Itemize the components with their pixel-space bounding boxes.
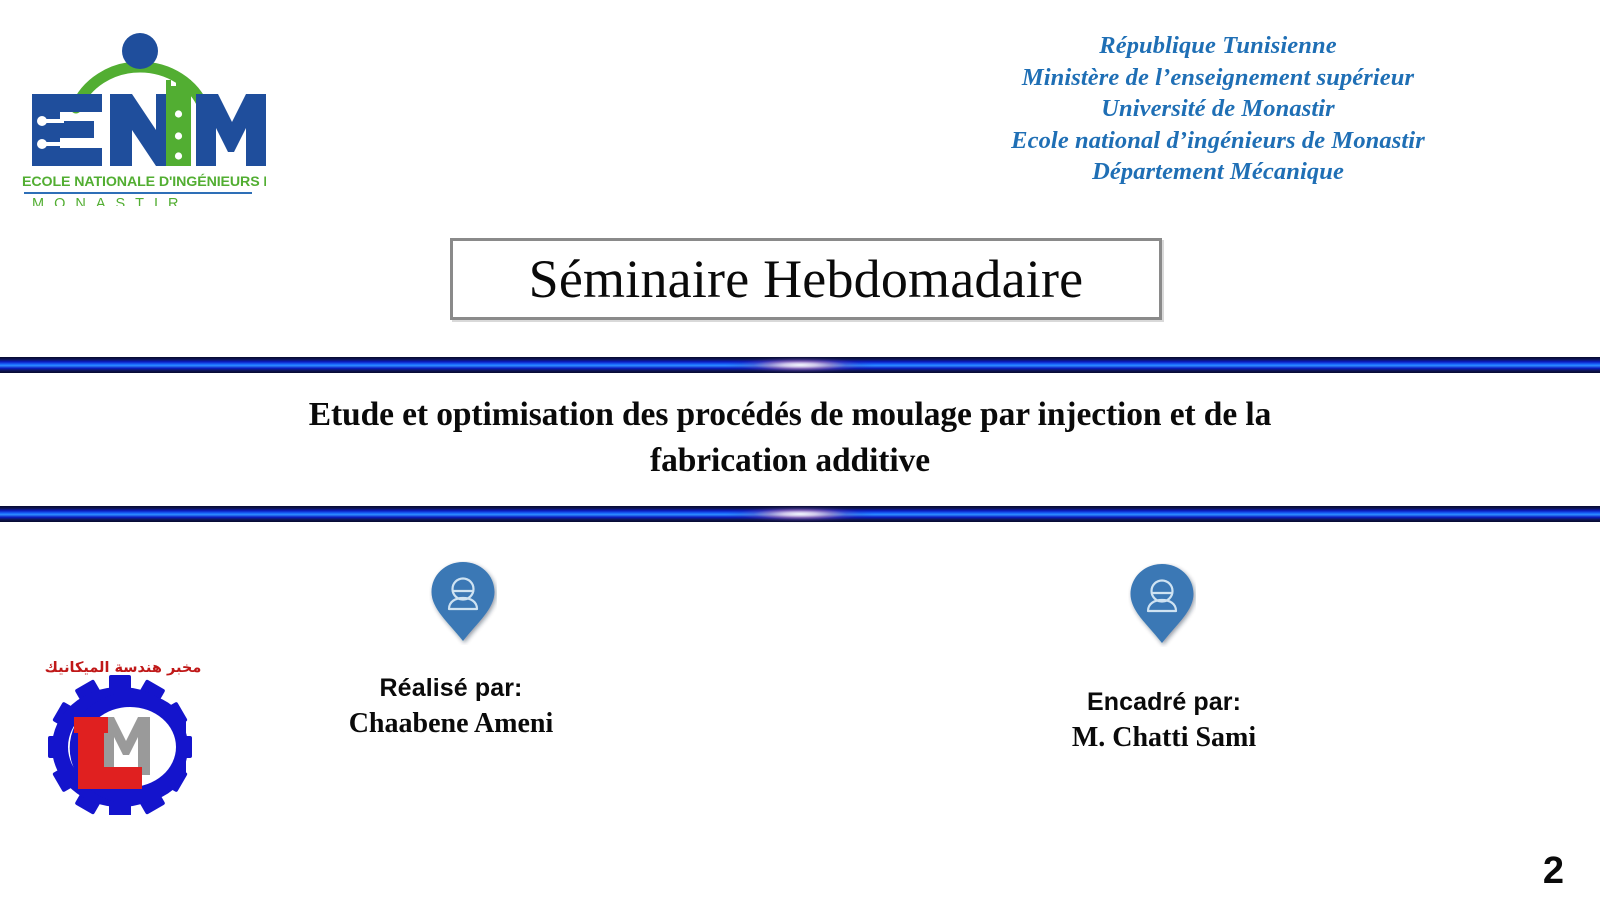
seminar-title-box: Séminaire Hebdomadaire	[450, 238, 1162, 320]
person-pin-icon	[429, 561, 497, 645]
divider-glow	[725, 356, 875, 374]
subject-line-2: fabrication additive	[190, 438, 1390, 484]
presentation-slide: ECOLE NATIONALE D'INGÉNIEURS DE MONASTIR…	[0, 0, 1600, 900]
lmg-lab-logo: مخبر هندسة الميكانيك	[8, 655, 238, 815]
institution-header: République Tunisienne Ministère de l’ens…	[898, 30, 1538, 188]
header-line-4: Ecole national d’ingénieurs de Monastir	[898, 125, 1538, 157]
enim-subtitle-line1: ECOLE NATIONALE D'INGÉNIEURS DE	[22, 173, 266, 190]
header-line-3: Université de Monastir	[898, 93, 1538, 125]
credit-role-label: Réalisé par:	[241, 670, 661, 706]
subject-line-1: Etude et optimisation des procédés de mo…	[190, 392, 1390, 438]
enim-logo: ECOLE NATIONALE D'INGÉNIEURS DE MONASTIR	[14, 26, 266, 206]
header-line-5: Département Mécanique	[898, 156, 1538, 188]
page-number: 2	[1543, 852, 1564, 890]
divider-bottom	[0, 506, 1600, 522]
page-title: Séminaire Hebdomadaire	[529, 252, 1084, 306]
credit-block-supervisor: Encadré par: M. Chatti Sami	[954, 684, 1374, 756]
person-pin-icon	[1128, 563, 1196, 647]
presentation-subject: Etude et optimisation des procédés de mo…	[190, 392, 1390, 484]
credit-role-label: Encadré par:	[954, 684, 1374, 720]
enim-subtitle-line2: MONASTIR	[32, 196, 189, 206]
header-line-2: Ministère de l’enseignement supérieur	[898, 62, 1538, 94]
divider-glow	[725, 505, 875, 523]
divider-top	[0, 357, 1600, 373]
header-line-1: République Tunisienne	[898, 30, 1538, 62]
credit-person-name: Chaabene Ameni	[241, 706, 661, 742]
lmg-arabic-title: مخبر هندسة الميكانيك	[45, 660, 202, 676]
credit-person-name: M. Chatti Sami	[954, 720, 1374, 756]
credit-block-author: Réalisé par: Chaabene Ameni	[241, 670, 661, 742]
